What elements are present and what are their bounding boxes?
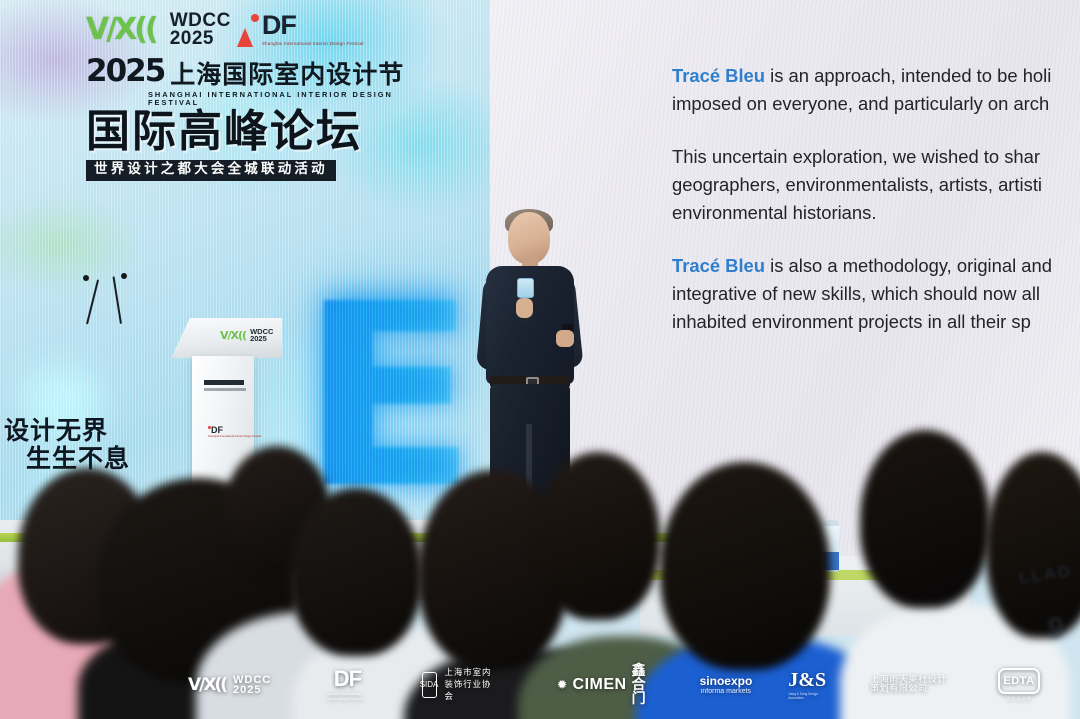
sponsor-sinoexpo-name: sinoexpo xyxy=(700,675,753,688)
wdcc-wordmark: WDCC 2025 xyxy=(170,12,231,48)
sponsor-edta-name: EDTA xyxy=(998,668,1040,694)
slide-line-text: inhabited environment projects in all th… xyxy=(672,311,1031,332)
slide-highlight-term: Tracé Bleu xyxy=(672,255,765,276)
idf-i-glyph xyxy=(251,12,259,47)
sponsor-js-name: J&S xyxy=(788,670,826,690)
idf-abbr: DF xyxy=(262,12,364,39)
idf-text-block: DF Shanghai International Interior Desig… xyxy=(262,12,364,48)
sponsor-logo-sida: SIDA 上海市室内装饰行业协会 xyxy=(422,667,495,702)
sponsor-logo-sinoexpo: sinoexpo informa markets xyxy=(700,675,753,696)
kv-title-cn: 上海国际室内设计节 xyxy=(170,62,404,87)
slide-line-text: environmental historians. xyxy=(672,202,876,223)
sponsor-wdcc-line2: 2025 xyxy=(233,684,261,696)
sponsor-sida-name: 上海市室内装饰行业协会 xyxy=(445,667,495,702)
sponsor-wdcc-wordmark: WDCC 2025 xyxy=(233,675,271,696)
podium-name-plate-line xyxy=(204,388,246,391)
kv-title-row: 2025 上海国际室内设计节 xyxy=(86,56,416,87)
wdcc-name-line2: 2025 xyxy=(170,30,231,48)
sponsor-logo-edta: EDTA 官方设计师 xyxy=(998,668,1040,701)
slide-line-text: imposed on everyone, and particularly on… xyxy=(672,93,1049,114)
speaker-handheld-microphone xyxy=(517,278,534,298)
sponsor-edta-sub: 官方设计师 xyxy=(1006,696,1031,701)
sponsor-logo-cimen: ✹ CIMEN 鑫合门 xyxy=(557,664,646,706)
speaker-head xyxy=(508,212,550,264)
slide-paragraph-2: This uncertain exploration, we wished to… xyxy=(672,143,1080,227)
kv-band-cn: 世界设计之都大会全城联动活动 xyxy=(86,160,336,181)
podium-idf-subtitle: Shanghai International Interior Design F… xyxy=(208,435,261,438)
kv-title-en: SHANGHAI INTERNATIONAL INTERIOR DESIGN F… xyxy=(148,91,416,106)
audience-head-7 xyxy=(660,462,830,670)
kv-logo-row: V/X(( WDCC 2025 DF Shanghai Internationa… xyxy=(86,12,416,48)
podium-logo: V/X(( WDCC 2025 xyxy=(220,328,273,342)
podium-idf-abbr: DF xyxy=(211,425,223,435)
slide-line-text: is an approach, intended to be holi xyxy=(765,65,1051,86)
slide-paragraph-3: Tracé Bleu is also a methodology, origin… xyxy=(672,252,1080,336)
idf-logo: DF Shanghai International Interior Desig… xyxy=(251,12,364,48)
slide-paragraph-1: Tracé Bleu is an approach, intended to b… xyxy=(672,62,1080,118)
audience-shirt-number: 9 xyxy=(1047,614,1064,644)
podium-name-plate xyxy=(204,380,244,385)
kv-year: 2025 xyxy=(86,56,164,87)
sponsor-logo-yutianguo: 上海雨天果社设计策划有限公司 xyxy=(870,676,948,694)
slide-line-text: integrative of new skills, which should … xyxy=(672,283,1040,304)
idf-dot-icon xyxy=(251,14,259,22)
audience-head-8 xyxy=(860,430,990,608)
sponsor-cimen-name-cn: 鑫合门 xyxy=(632,664,646,706)
podium-mark-icon: V/X(( xyxy=(220,330,246,341)
slogan-line-1: 设计无界 xyxy=(4,418,130,444)
idf-triangle-icon xyxy=(237,28,253,47)
sponsor-sinoexpo-sub: informa markets xyxy=(701,688,751,696)
sponsor-idf-abbr: DF xyxy=(334,668,361,690)
audience-head-4 xyxy=(290,488,422,656)
sponsor-logo-bar: V/X(( WDCC 2025 DF Shanghai Internationa… xyxy=(0,651,1080,719)
conference-stage-photo: E V/X(( WDCC 2025 DF Shanghai Internatio… xyxy=(0,0,1080,719)
slide-line-text: geographers, environmentalists, artists,… xyxy=(672,174,1042,195)
sponsor-wdcc-mark-icon: V/X(( xyxy=(188,677,226,694)
kv-headline-cn: 国际高峰论坛 xyxy=(86,109,416,155)
speaker-hand-right xyxy=(556,330,574,347)
wall-slogan: 设计无界 生生不息 xyxy=(4,418,130,473)
idf-subtitle: Shanghai International Interior Design F… xyxy=(262,41,364,48)
wdcc-mark-icon: V/X(( xyxy=(86,15,156,45)
slide-highlight-term: Tracé Bleu xyxy=(672,65,765,86)
podium-mic-head-left xyxy=(83,275,89,281)
sida-badge-icon: SIDA xyxy=(422,672,437,698)
sponsor-logo-wdcc: V/X(( WDCC 2025 xyxy=(188,675,271,696)
event-key-visual: V/X(( WDCC 2025 DF Shanghai Internationa… xyxy=(86,12,416,181)
sponsor-logo-js: J&S Jiang & Song Design Associates xyxy=(788,670,826,700)
cimen-glyph-icon: ✹ xyxy=(557,679,568,692)
audience-head-6 xyxy=(536,452,660,620)
slide-line-text: is also a methodology, original and xyxy=(765,255,1052,276)
slide-text-body: Tracé Bleu is an approach, intended to b… xyxy=(672,62,1080,336)
sponsor-idf-subtitle: Shanghai International Interior Design F… xyxy=(327,692,367,702)
sponsor-logo-idf: DF Shanghai International Interior Desig… xyxy=(327,668,367,702)
slide-line-text: This uncertain exploration, we wished to… xyxy=(672,146,1040,167)
sponsor-js-sub: Jiang & Song Design Associates xyxy=(788,692,826,700)
podium-wordmark: WDCC 2025 xyxy=(250,328,273,342)
podium-mic-head-right xyxy=(121,273,127,279)
podium-name-line2: 2025 xyxy=(250,334,267,343)
sponsor-cimen-name: CIMEN xyxy=(573,677,627,693)
podium-idf-logo: DF Shanghai International Interior Desig… xyxy=(208,426,261,438)
speaker-hand-left xyxy=(516,298,533,318)
